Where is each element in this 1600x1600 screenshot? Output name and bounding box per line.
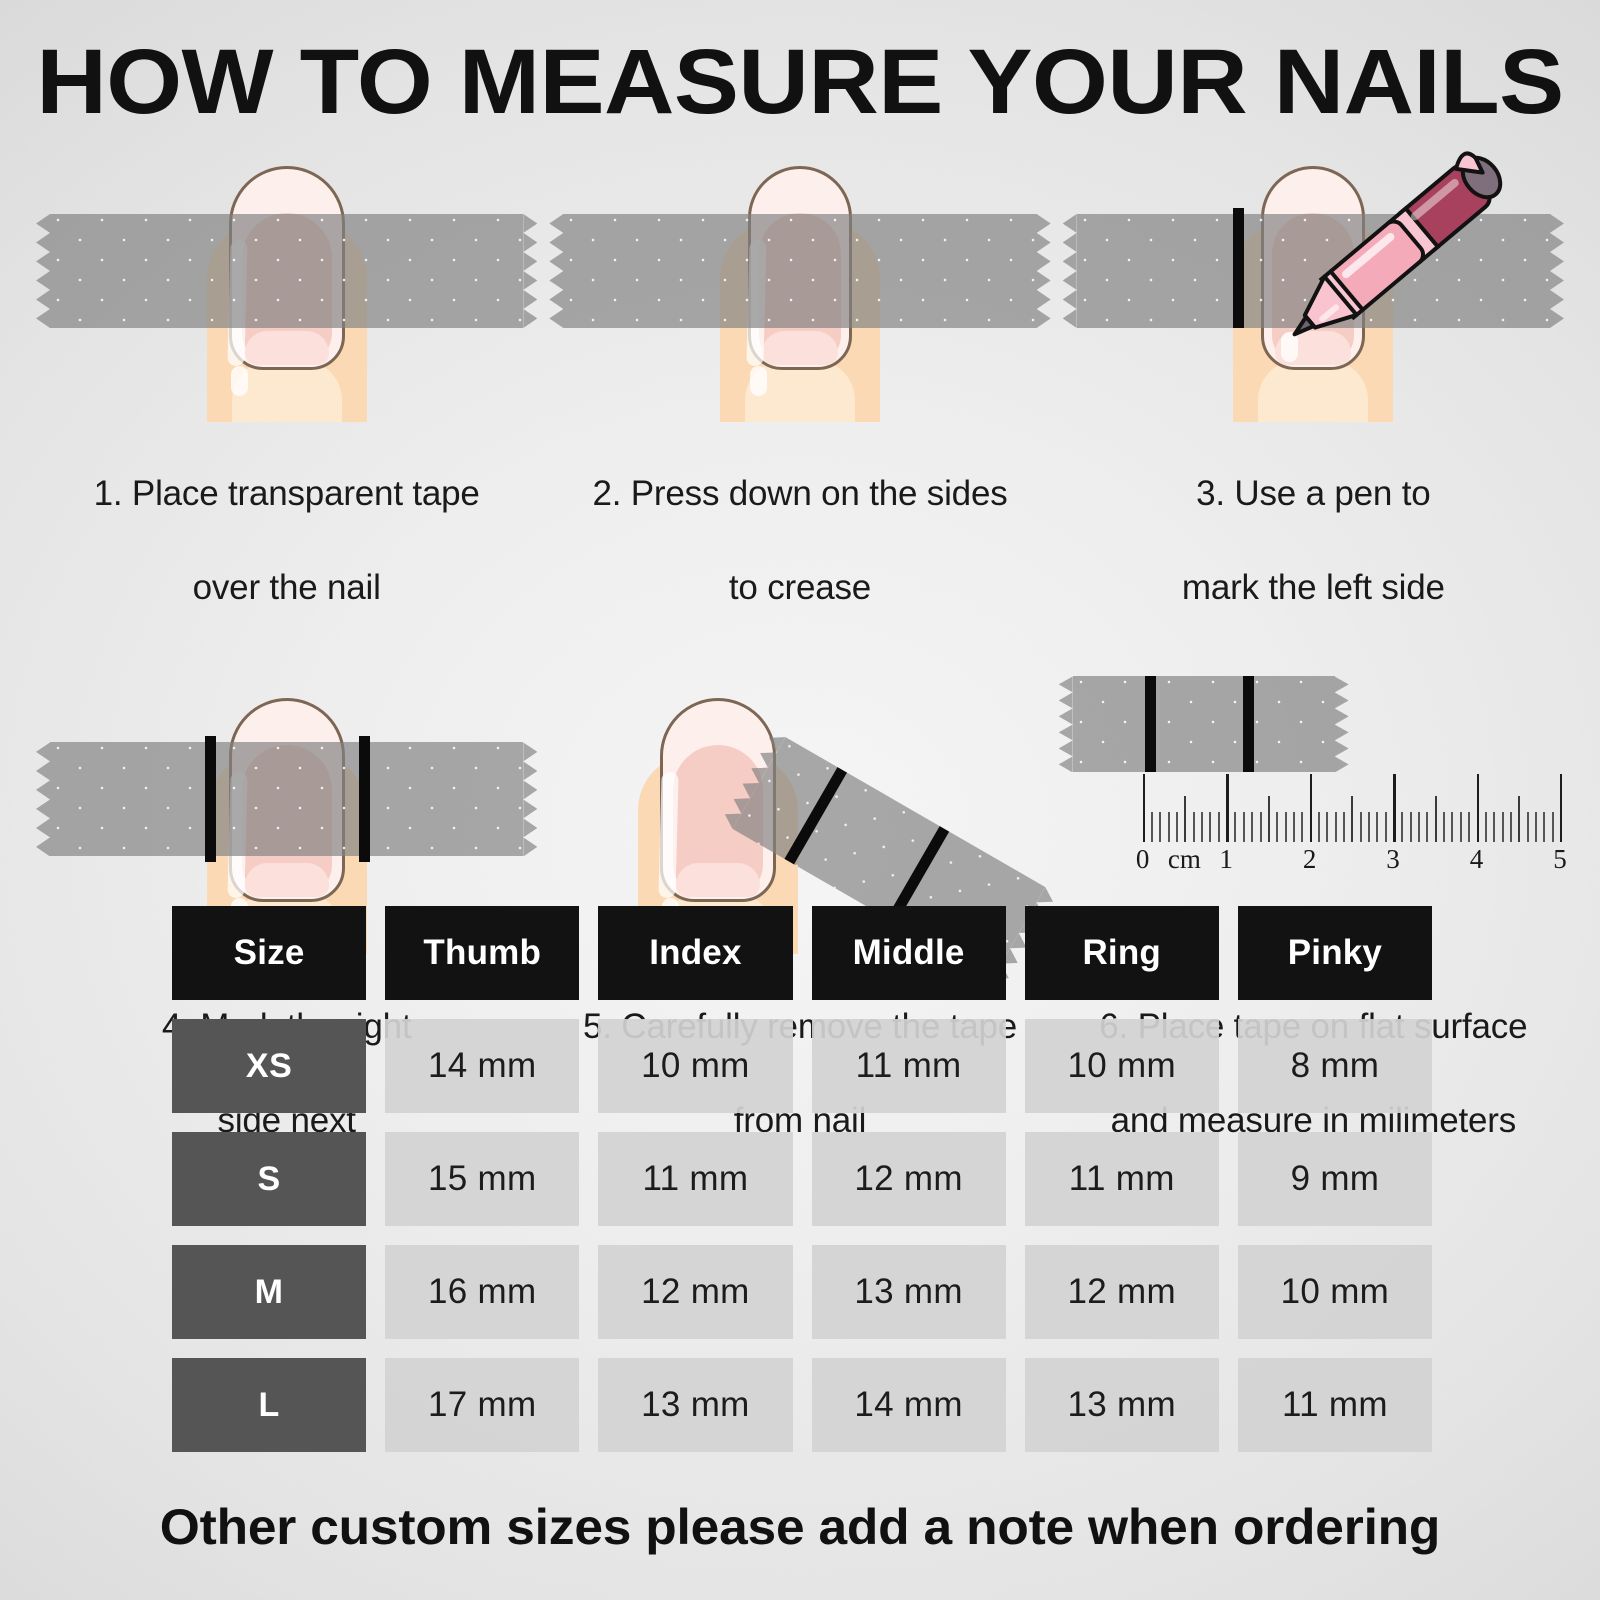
ruler-tick-minor	[1485, 812, 1487, 842]
ruler-tick-minor	[1426, 812, 1428, 842]
column-header-pinky: Pinky	[1238, 906, 1432, 1000]
ruler-tick-minor	[1385, 812, 1387, 842]
footer-note: Other custom sizes please add a note whe…	[0, 1498, 1600, 1556]
tape-strip-flat	[1073, 676, 1335, 772]
table-row: S 15 mm 11 mm 12 mm 11 mm 9 mm	[172, 1132, 1432, 1226]
ruler-tick-minor	[1335, 812, 1337, 842]
ruler-tick-minor	[1201, 812, 1203, 842]
nail-lunula	[245, 863, 329, 897]
ruler-tick-minor	[1234, 812, 1236, 842]
tape-texture	[50, 214, 523, 328]
ruler-tick-minor	[1552, 812, 1554, 842]
nail-lunula	[676, 863, 760, 897]
cell-thumb: 14 mm	[385, 1019, 579, 1113]
table-header-row: Size Thumb Index Middle Ring Pinky	[172, 906, 1432, 1000]
ruler-tick-minor	[1251, 812, 1253, 842]
column-header-ring: Ring	[1025, 906, 1219, 1000]
ruler-tick-minor	[1418, 812, 1420, 842]
pen-mark-left	[205, 736, 216, 862]
ruler-tick-minor	[1360, 812, 1362, 842]
cell-index: 10 mm	[598, 1019, 792, 1113]
ruler-tick-major	[1226, 774, 1229, 842]
cell-ring: 13 mm	[1025, 1358, 1219, 1452]
size-label: XS	[172, 1019, 366, 1113]
tape-texture	[563, 214, 1036, 328]
tape-zigzag-right	[1037, 214, 1051, 328]
ruler-tick-minor	[1502, 812, 1504, 842]
ruler-tick-minor	[1527, 812, 1529, 842]
ruler-tick-minor	[1443, 812, 1445, 842]
ruler-label: 5	[1553, 844, 1567, 875]
cell-ring: 12 mm	[1025, 1245, 1219, 1339]
ruler-tick-minor	[1535, 812, 1537, 842]
ruler-tick-minor	[1460, 812, 1462, 842]
step-2-caption-line1: 2. Press down on the sides	[592, 472, 1007, 516]
ruler-labels: 0cm12345	[1143, 844, 1560, 880]
step-2-caption: 2. Press down on the sides to crease	[592, 428, 1007, 654]
ruler-tick-minor	[1468, 812, 1470, 842]
column-header-middle: Middle	[812, 906, 1006, 1000]
ruler-label: 0	[1136, 844, 1150, 875]
ruler-tick-minor	[1209, 812, 1211, 842]
ruler-tick-mid	[1184, 796, 1186, 842]
ruler-tick-minor	[1451, 812, 1453, 842]
tape-strip	[50, 214, 523, 328]
step-1-caption-line2: over the nail	[94, 566, 480, 610]
table-row: M 16 mm 12 mm 13 mm 12 mm 10 mm	[172, 1245, 1432, 1339]
step-2: 2. Press down on the sides to crease	[543, 134, 1056, 654]
ruler-tick-major	[1143, 774, 1146, 842]
ruler-tick-minor	[1193, 812, 1195, 842]
tape-texture	[50, 742, 523, 856]
pen-mark-right	[359, 736, 370, 862]
ruler-unit-label: cm	[1168, 844, 1201, 875]
cell-thumb: 17 mm	[385, 1358, 579, 1452]
tape-strip	[50, 742, 523, 856]
table-row: XS 14 mm 10 mm 11 mm 10 mm 8 mm	[172, 1019, 1432, 1113]
ruler-tick-minor	[1543, 812, 1545, 842]
cell-index: 12 mm	[598, 1245, 792, 1339]
ruler-tick-minor	[1318, 812, 1320, 842]
step-3-caption-line1: 3. Use a pen to	[1182, 472, 1445, 516]
size-label: M	[172, 1245, 366, 1339]
tape-strip	[563, 214, 1036, 328]
ruler-tick-minor	[1368, 812, 1370, 842]
ruler-tick-minor	[1301, 812, 1303, 842]
cell-pinky: 10 mm	[1238, 1245, 1432, 1339]
cell-middle: 11 mm	[812, 1019, 1006, 1113]
column-header-size: Size	[172, 906, 366, 1000]
column-header-index: Index	[598, 906, 792, 1000]
step-3-caption-line2: mark the left side	[1182, 566, 1445, 610]
ruler-tick-minor	[1510, 812, 1512, 842]
cell-middle: 13 mm	[812, 1245, 1006, 1339]
size-label: S	[172, 1132, 366, 1226]
step-2-figure	[543, 134, 1056, 422]
ruler-tick-minor	[1410, 812, 1412, 842]
size-chart-table: Size Thumb Index Middle Ring Pinky XS 14…	[172, 906, 1432, 1471]
pen-mark-left	[1145, 676, 1156, 772]
table-row: L 17 mm 13 mm 14 mm 13 mm 11 mm	[172, 1358, 1432, 1452]
pen-mark-left	[1233, 208, 1244, 328]
cell-middle: 14 mm	[812, 1358, 1006, 1452]
ruler: 0cm12345	[1057, 772, 1570, 882]
cell-ring: 10 mm	[1025, 1019, 1219, 1113]
cell-pinky: 9 mm	[1238, 1132, 1432, 1226]
tape-zigzag-right	[523, 214, 537, 328]
ruler-tick-major	[1560, 774, 1563, 842]
ruler-tick-minor	[1218, 812, 1220, 842]
ruler-tick-minor	[1285, 812, 1287, 842]
step-1-figure	[30, 134, 543, 422]
cell-middle: 12 mm	[812, 1132, 1006, 1226]
ruler-tick-minor	[1401, 812, 1403, 842]
ruler-tick-minor	[1168, 812, 1170, 842]
ruler-tick-minor	[1343, 812, 1345, 842]
ruler-tick-minor	[1260, 812, 1262, 842]
tape-texture	[1073, 676, 1335, 772]
ruler-tick-minor	[1493, 812, 1495, 842]
tape-zigzag-left	[36, 742, 50, 856]
page-title: HOW TO MEASURE YOUR NAILS	[0, 0, 1600, 128]
nail-shine-long	[658, 772, 678, 898]
ruler-tick-minor	[1151, 812, 1153, 842]
ruler-tick-mid	[1435, 796, 1437, 842]
ruler-tick-minor	[1176, 812, 1178, 842]
ruler-tick-major	[1393, 774, 1396, 842]
cell-pinky: 11 mm	[1238, 1358, 1432, 1452]
ruler-tick-major	[1310, 774, 1313, 842]
tape-zigzag-left	[549, 214, 563, 328]
tape-zigzag-left	[1063, 214, 1077, 328]
step-3-figure	[1057, 134, 1570, 422]
nail-shine-dot	[231, 366, 248, 396]
cell-ring: 11 mm	[1025, 1132, 1219, 1226]
ruler-tick-minor	[1376, 812, 1378, 842]
ruler-tick-minor	[1159, 812, 1161, 842]
step-3-caption: 3. Use a pen to mark the left side	[1182, 428, 1445, 654]
ruler-tick-major	[1477, 774, 1480, 842]
nail-shine-dot	[750, 366, 767, 396]
pen-icon	[1263, 132, 1553, 362]
cell-thumb: 16 mm	[385, 1245, 579, 1339]
ruler-label: 3	[1386, 844, 1400, 875]
ruler-tick-minor	[1326, 812, 1328, 842]
nail-lunula	[762, 331, 838, 365]
tape-zigzag-left	[1059, 676, 1073, 772]
ruler-tick-mid	[1518, 796, 1520, 842]
pen-mark-right	[1243, 676, 1254, 772]
ruler-ticks	[1143, 772, 1560, 842]
nail-lunula	[245, 331, 329, 365]
column-header-thumb: Thumb	[385, 906, 579, 1000]
ruler-tick-mid	[1351, 796, 1353, 842]
size-label: L	[172, 1358, 366, 1452]
ruler-label: 2	[1303, 844, 1317, 875]
ruler-tick-minor	[1293, 812, 1295, 842]
tape-zigzag-right	[523, 742, 537, 856]
ruler-label: 1	[1219, 844, 1233, 875]
ruler-tick-mid	[1268, 796, 1270, 842]
step-1-caption-line1: 1. Place transparent tape	[94, 472, 480, 516]
cell-pinky: 8 mm	[1238, 1019, 1432, 1113]
tape-zigzag-right	[1335, 676, 1349, 772]
ruler-tick-minor	[1276, 812, 1278, 842]
cell-index: 11 mm	[598, 1132, 792, 1226]
step-3: 3. Use a pen to mark the left side	[1057, 134, 1570, 654]
ruler-tick-minor	[1243, 812, 1245, 842]
step-2-caption-line2: to crease	[592, 566, 1007, 610]
ruler-label: 4	[1470, 844, 1484, 875]
cell-index: 13 mm	[598, 1358, 792, 1452]
cell-thumb: 15 mm	[385, 1132, 579, 1226]
step-1-caption: 1. Place transparent tape over the nail	[94, 428, 480, 654]
tape-zigzag-left	[36, 214, 50, 328]
step-1: 1. Place transparent tape over the nail	[30, 134, 543, 654]
